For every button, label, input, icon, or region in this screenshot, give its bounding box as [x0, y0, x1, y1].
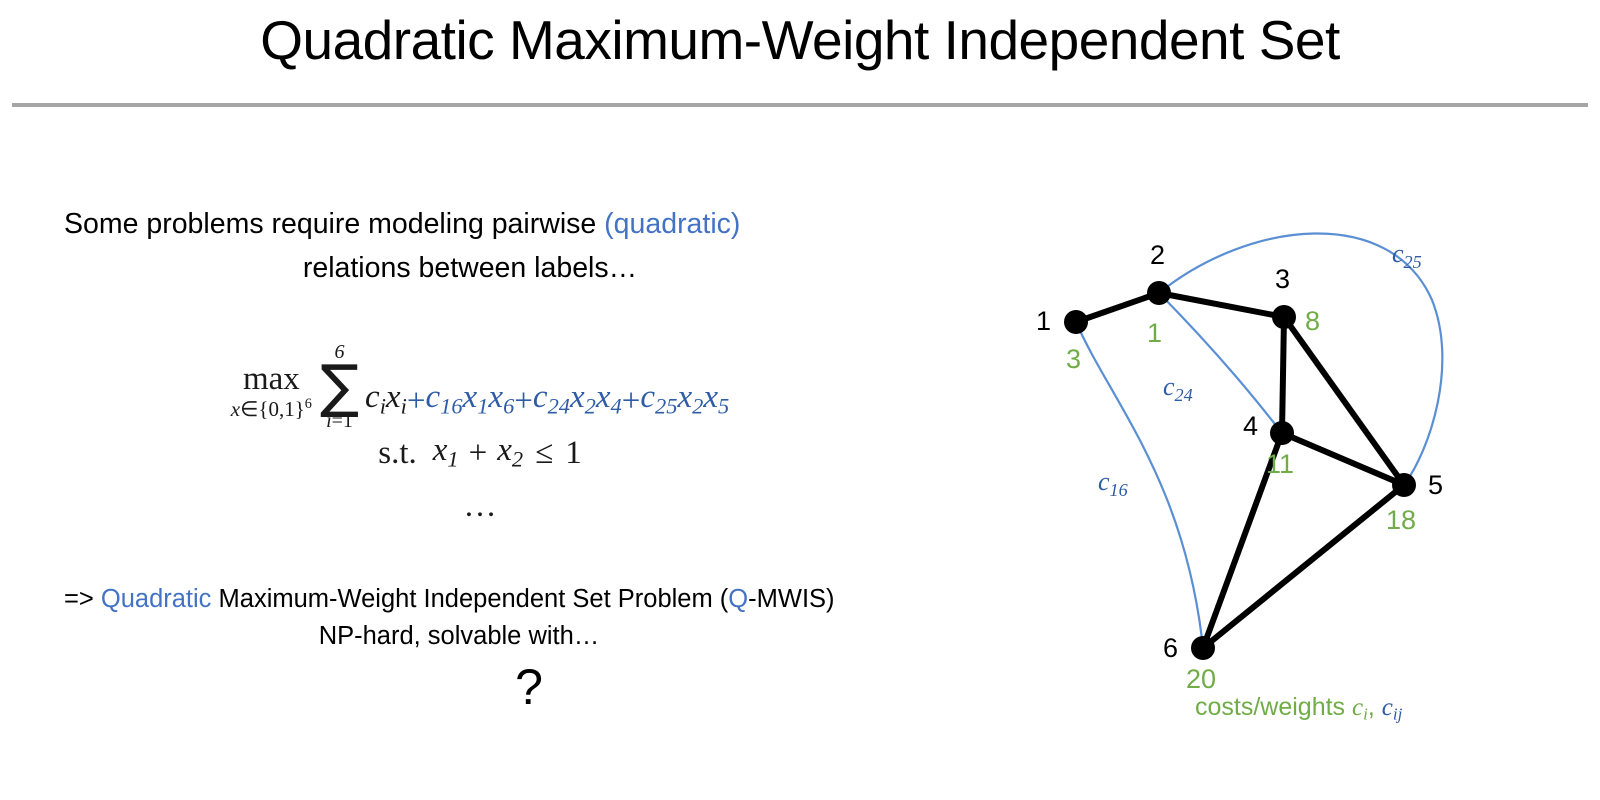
quadratic-term-25: c25x2x5: [640, 379, 729, 419]
node-label-3: 3: [1275, 264, 1290, 294]
node-label-1: 1: [1036, 306, 1051, 336]
node-label-6: 6: [1163, 633, 1178, 663]
intro-line-2: relations between labels…: [0, 246, 940, 290]
cost-label-16: c16: [1098, 467, 1128, 500]
cost-label-25: c25: [1392, 239, 1422, 272]
conclusion-tail: -MWIS): [748, 585, 834, 613]
quadratic-term-24: c24x2x4: [533, 379, 622, 419]
page-title: Quadratic Maximum-Weight Independent Set: [0, 8, 1600, 72]
graph-node-6[interactable]: [1191, 636, 1215, 660]
node-weight-2: 1: [1147, 318, 1162, 348]
constraint-rhs: 1: [565, 435, 582, 472]
summation-operator: 6 ∑ i=1: [320, 342, 359, 432]
edge-3-4: [1282, 317, 1284, 433]
node-weight-5: 18: [1386, 505, 1416, 535]
sum-lower-limit: i=1: [326, 411, 353, 432]
math-objective-row: max x∈{0,1}6 6 ∑ i=1 cixi+ c16x1x6 + c24…: [0, 330, 960, 420]
conclusion-highlight-quadratic: Quadratic: [101, 585, 212, 613]
quadratic-edge-2-5: [1159, 233, 1442, 485]
conclusion-line-2: NP-hard, solvable with…: [64, 622, 854, 651]
graph-diagram: 1 2 3 4 5 6 3 1 8 11 18 20 c16 c24 c25 c…: [1000, 150, 1600, 770]
title-divider: [12, 103, 1588, 107]
intro-line-1: Some problems require modeling pairwise …: [64, 202, 740, 246]
quadratic-term-16: c16x1x6: [425, 379, 514, 419]
intro-line-1-prefix: Some problems require modeling pairwise: [64, 208, 604, 240]
plus-sign-2: +: [514, 383, 533, 420]
legend-comma: ,: [1368, 693, 1382, 721]
max-operator: max x∈{0,1}6: [231, 363, 312, 420]
plus-sign-1: +: [407, 383, 426, 420]
graph-node-1[interactable]: [1064, 310, 1088, 334]
constraint-x2: x2: [497, 432, 523, 472]
question-mark: ?: [64, 658, 994, 716]
conclusion-arrow: =>: [64, 585, 101, 613]
quadratic-edge-1-6: [1076, 322, 1203, 648]
node-label-2: 2: [1150, 240, 1165, 270]
math-ellipsis-row: …: [0, 488, 960, 525]
node-weight-6: 20: [1186, 664, 1216, 694]
node-label-5: 5: [1428, 470, 1443, 500]
constraint-plus: +: [469, 435, 488, 472]
graph-node-4[interactable]: [1270, 421, 1294, 445]
node-label-4: 4: [1243, 411, 1258, 441]
plus-sign-3: +: [622, 383, 641, 420]
constraint-prefix: s.t.: [378, 435, 417, 472]
conclusion-highlight-q: Q: [728, 585, 748, 613]
graph-node-2[interactable]: [1147, 281, 1171, 305]
math-constraint-row: s.t. x1 + x2 ≤ 1: [0, 432, 960, 472]
graph-node-5[interactable]: [1392, 473, 1416, 497]
sigma-glyph: ∑: [320, 363, 359, 411]
intro-line-1-highlight: (quadratic): [604, 208, 740, 240]
cost-label-24: c24: [1163, 372, 1193, 405]
constraint-x1: x1: [433, 432, 459, 472]
legend-costs-weights: costs/weights ci, cij: [1195, 693, 1402, 724]
graph-node-3[interactable]: [1272, 305, 1296, 329]
legend-cij: cij: [1382, 694, 1403, 721]
max-operator-label: max: [243, 363, 300, 396]
node-weight-1: 3: [1066, 344, 1081, 374]
node-weight-3: 8: [1305, 306, 1320, 336]
max-operator-domain: x∈{0,1}6: [231, 397, 312, 420]
conclusion-mid: Maximum-Weight Independent Set Problem (: [211, 585, 728, 613]
left-content-pane: Some problems require modeling pairwise …: [0, 150, 1000, 790]
constraint-relation: ≤: [535, 435, 553, 472]
legend-ci: ci: [1352, 694, 1368, 721]
legend-prefix: costs/weights: [1195, 693, 1352, 721]
graph-svg: 1 2 3 4 5 6 3 1 8 11 18 20 c16 c24 c25: [1000, 150, 1600, 770]
linear-term: cixi: [365, 379, 407, 419]
conclusion-line-1: => Quadratic Maximum-Weight Independent …: [64, 585, 835, 614]
node-weight-4: 11: [1266, 449, 1294, 479]
